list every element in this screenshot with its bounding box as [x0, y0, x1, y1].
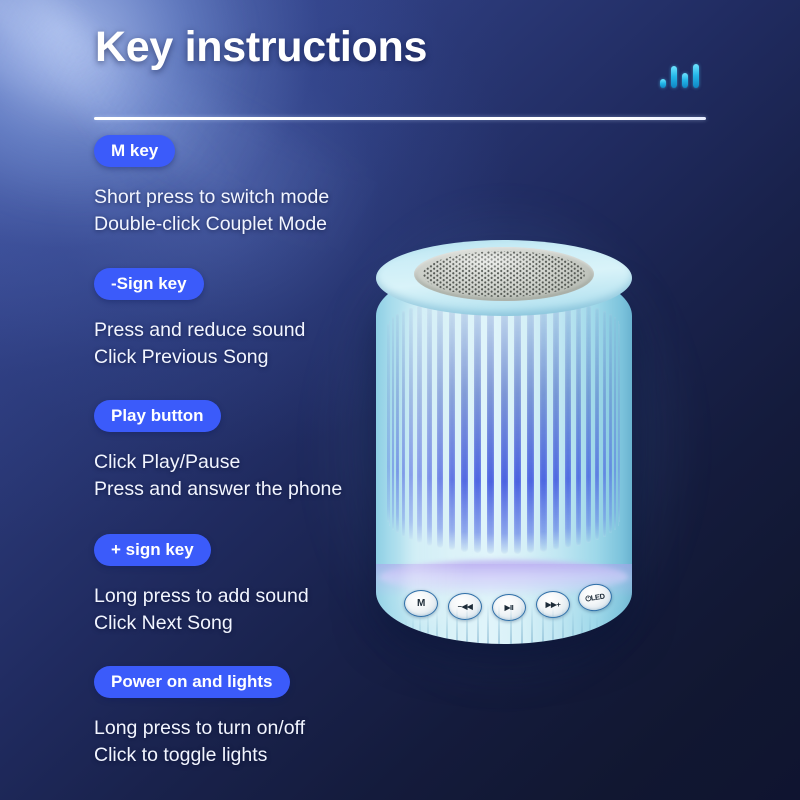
instruction-lines: Press and reduce sound Click Previous So… — [94, 317, 305, 371]
speaker-mesh-grille — [414, 247, 594, 301]
speaker-skirt-rib — [596, 616, 598, 644]
instruction-line: Long press to turn on/off — [94, 715, 305, 742]
speaker-rib-slot — [501, 296, 508, 554]
speaker-skirt-rib — [552, 607, 554, 644]
instruction-line: Press and reduce sound — [94, 317, 305, 344]
speaker-rib-slot — [540, 298, 547, 552]
instruction-lines: Short press to switch mode Double-click … — [94, 184, 329, 238]
speaker-rib-slot — [474, 297, 481, 553]
instruction-pill: M key — [94, 135, 175, 167]
speaker-rib-slot — [461, 298, 468, 552]
instruction-line: Double-click Couplet Mode — [94, 211, 329, 238]
speaker-rib-slot — [586, 305, 591, 543]
instruction-block: Play button Click Play/Pause Press and a… — [94, 400, 342, 503]
speaker-skirt-rib — [419, 614, 421, 644]
speaker-rib-slot — [402, 311, 406, 537]
poster-canvas: Key instructions M key Short press to sw… — [0, 0, 800, 800]
speaker-rib-slot — [603, 311, 607, 537]
speaker-skirt-rib — [487, 604, 489, 644]
speaker-rib-slot — [576, 303, 581, 546]
speaker-rib-slot — [609, 314, 612, 533]
instruction-line: Long press to add sound — [94, 583, 309, 610]
power-led-button[interactable]: ⏻LED — [576, 582, 614, 614]
instruction-pill: -Sign key — [94, 268, 204, 300]
instruction-lines: Click Play/Pause Press and answer the ph… — [94, 449, 342, 503]
speaker-top-cap — [376, 240, 632, 316]
speaker-skirt-rib — [618, 627, 620, 644]
instruction-line: Click Play/Pause — [94, 449, 342, 476]
speaker-skirt-rib — [399, 621, 401, 644]
speaker-skirt-rib — [624, 636, 626, 644]
speaker-rib-slot — [527, 297, 534, 553]
speaker-skirt-rib — [581, 612, 583, 644]
instruction-line: Press and answer the phone — [94, 476, 342, 503]
speaker-skirt-rib — [390, 627, 392, 644]
speaker-skirt-rib — [412, 616, 414, 644]
speaker-rib-slot — [614, 317, 616, 529]
speaker-skirt-rib — [446, 608, 448, 644]
speaker-skirt-rib — [498, 604, 500, 644]
speaker-skirt-rib — [572, 610, 574, 644]
speaker-skirt-rib — [405, 619, 407, 644]
page-title: Key instructions — [95, 23, 427, 72]
header-divider — [94, 117, 706, 120]
speaker-skirt-rib — [542, 606, 544, 644]
instruction-line: Short press to switch mode — [94, 184, 329, 211]
speaker-skirt-rib — [436, 610, 438, 644]
instruction-pill: Play button — [94, 400, 221, 432]
speaker-skirt-rib — [477, 605, 479, 644]
speaker-skirt-rib — [531, 605, 533, 644]
speaker-skirt-rib — [427, 612, 429, 644]
speaker-body: M −◀◀ ▶II ▶▶+ ⏻LED — [376, 264, 632, 644]
mode-button[interactable]: M — [404, 590, 438, 617]
grille-highlight — [434, 250, 544, 270]
instruction-block: M key Short press to switch mode Double-… — [94, 135, 329, 238]
speaker-rib-slot — [487, 296, 494, 554]
speaker-skirt-rib — [614, 624, 616, 644]
instruction-line: Click to toggle lights — [94, 742, 305, 769]
instruction-lines: Long press to add sound Click Next Song — [94, 583, 309, 637]
speaker-skirt-rib — [609, 621, 611, 644]
speaker-skirt-rib — [387, 630, 389, 644]
speaker-rib-slot — [553, 299, 559, 550]
equalizer-icon — [660, 56, 700, 88]
instruction-pill: Power on and lights — [94, 666, 290, 698]
bluetooth-speaker-image: M −◀◀ ▶II ▶▶+ ⏻LED — [368, 240, 640, 660]
instruction-line: Click Previous Song — [94, 344, 305, 371]
instruction-block: -Sign key Press and reduce sound Click P… — [94, 268, 305, 371]
speaker-skirt-rib — [521, 604, 523, 644]
speaker-rib-slot — [619, 324, 620, 522]
speaker-rib-slot — [389, 321, 390, 526]
speaker-skirt-rib — [589, 614, 591, 644]
speaker-skirt-rib — [456, 607, 458, 644]
instruction-line: Click Next Song — [94, 610, 309, 637]
speaker-skirt-rib — [603, 619, 605, 644]
speaker-rib-slot — [392, 317, 394, 529]
speaker-rib-slot — [396, 314, 399, 533]
speaker-skirt-rib — [466, 606, 468, 644]
speaker-rib-slot — [514, 296, 521, 554]
speaker-rib-slot — [565, 301, 571, 548]
instruction-block: Power on and lights Long press to turn o… — [94, 666, 305, 769]
speaker-rib-slot — [595, 308, 599, 540]
instruction-pill: + sign key — [94, 534, 211, 566]
speaker-skirt-rib — [394, 624, 396, 644]
instruction-block: + sign key Long press to add sound Click… — [94, 534, 309, 637]
body-highlight — [406, 294, 462, 624]
speaker-skirt-rib — [562, 608, 564, 644]
instruction-lines: Long press to turn on/off Click to toggl… — [94, 715, 305, 769]
speaker-skirt-rib — [510, 604, 512, 644]
